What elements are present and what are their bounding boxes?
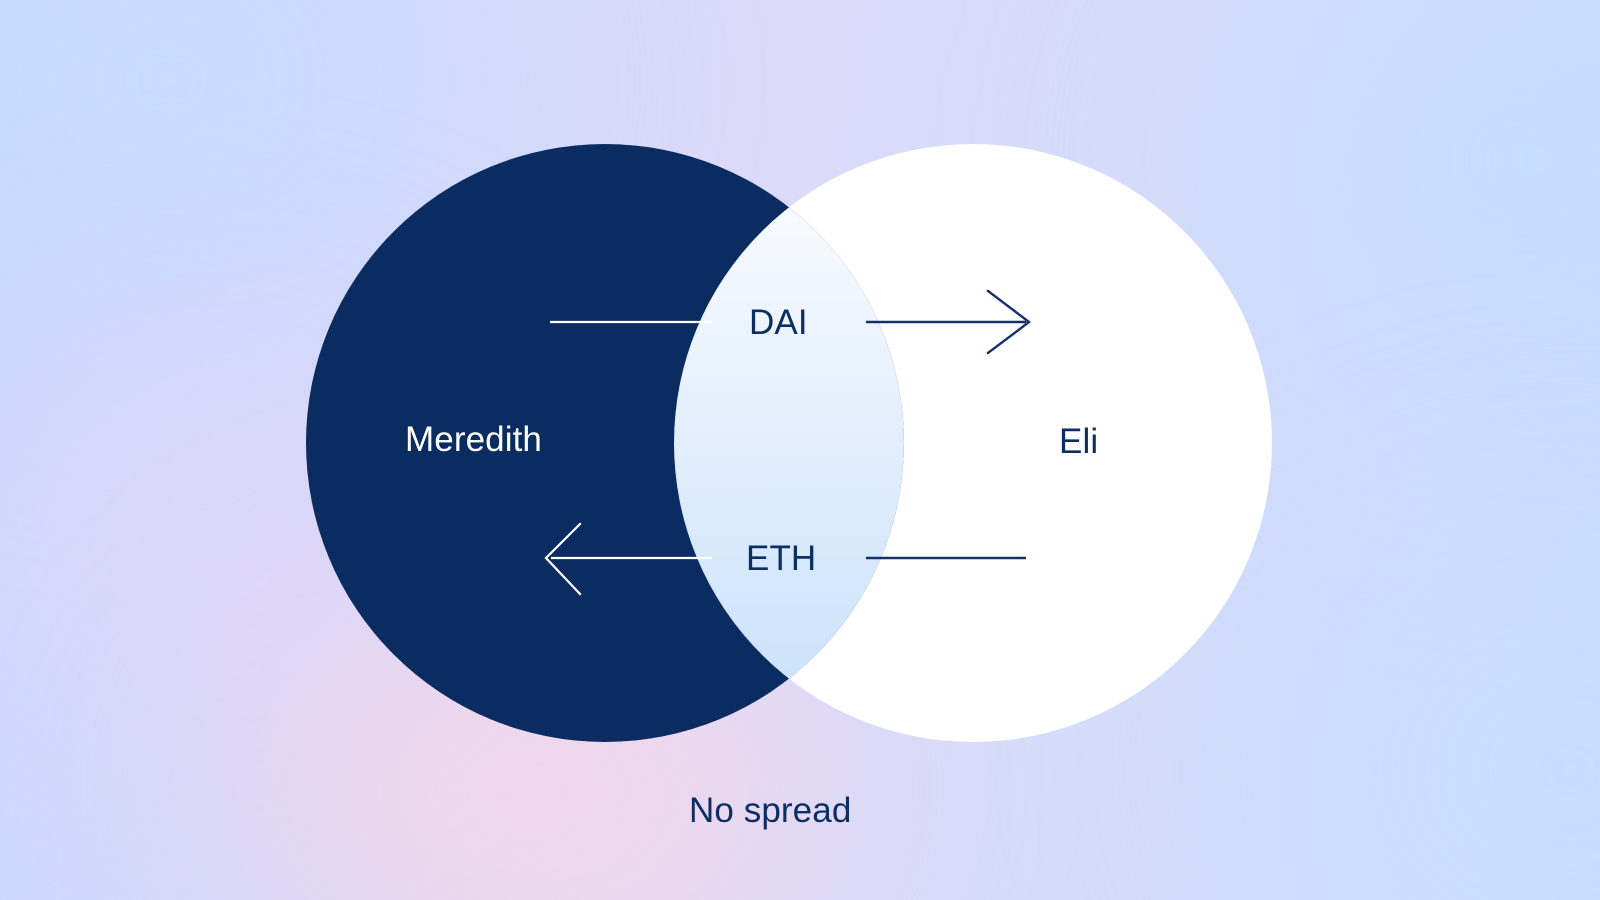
label-meredith: Meredith — [405, 420, 542, 460]
label-eth-token: ETH — [746, 539, 816, 579]
caption-no-spread: No spread — [689, 791, 851, 831]
diagram-canvas: Meredith Eli DAI ETH No spread — [0, 0, 1600, 900]
label-eli: Eli — [1059, 422, 1098, 462]
label-dai-token: DAI — [749, 303, 808, 343]
venn-diagram — [0, 0, 1600, 900]
